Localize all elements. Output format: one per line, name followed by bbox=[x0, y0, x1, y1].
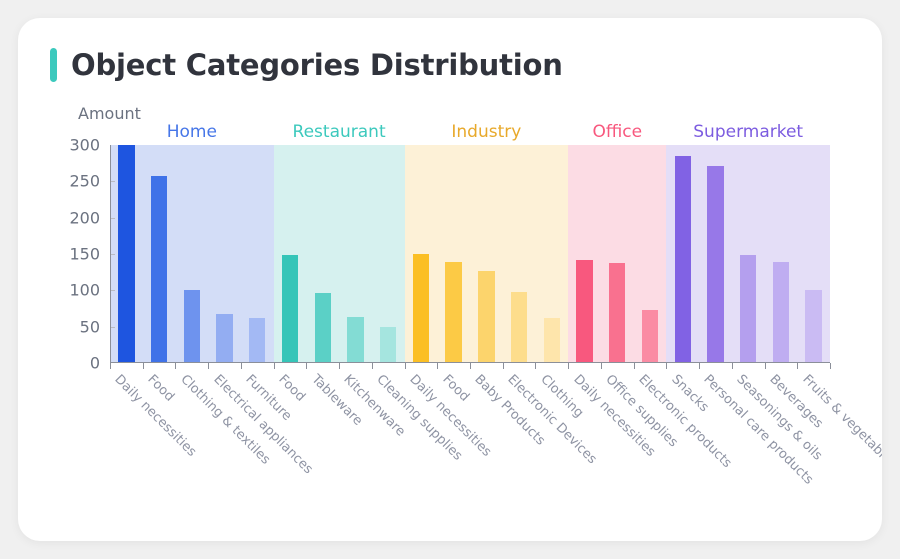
x-tick bbox=[241, 363, 242, 369]
bar[interactable] bbox=[413, 254, 429, 363]
bar[interactable] bbox=[576, 260, 592, 363]
bar[interactable] bbox=[347, 317, 363, 363]
bar[interactable] bbox=[216, 314, 232, 363]
bar[interactable] bbox=[315, 293, 331, 363]
chart-title-row: Object Categories Distribution bbox=[50, 48, 563, 82]
x-tick bbox=[765, 363, 766, 369]
x-tick bbox=[143, 363, 144, 369]
x-tick bbox=[732, 363, 733, 369]
x-tick bbox=[405, 363, 406, 369]
y-tick-label: 100 bbox=[69, 281, 100, 300]
bar[interactable] bbox=[445, 262, 461, 363]
y-axis-title: Amount bbox=[78, 104, 141, 123]
bar[interactable] bbox=[642, 310, 658, 363]
x-axis-line bbox=[110, 362, 830, 363]
bar[interactable] bbox=[478, 271, 494, 363]
x-tick bbox=[470, 363, 471, 369]
group-label-office: Office bbox=[592, 122, 642, 142]
bar[interactable] bbox=[805, 290, 821, 363]
bar[interactable] bbox=[740, 255, 756, 363]
bar[interactable] bbox=[511, 292, 527, 363]
x-tick bbox=[830, 363, 831, 369]
y-tick-label: 50 bbox=[80, 317, 100, 336]
bar[interactable] bbox=[380, 327, 396, 363]
bar[interactable] bbox=[118, 145, 134, 363]
y-tick-label: 0 bbox=[90, 354, 100, 373]
x-tick bbox=[666, 363, 667, 369]
plot-area: 050100150200250300 bbox=[110, 145, 830, 363]
group-label-home: Home bbox=[167, 122, 217, 142]
x-tick bbox=[339, 363, 340, 369]
x-tick bbox=[437, 363, 438, 369]
x-tick bbox=[208, 363, 209, 369]
bar[interactable] bbox=[184, 290, 200, 363]
x-tick bbox=[699, 363, 700, 369]
bar[interactable] bbox=[151, 176, 167, 363]
y-tick-label: 250 bbox=[69, 172, 100, 191]
bar[interactable] bbox=[675, 156, 691, 363]
x-tick bbox=[372, 363, 373, 369]
x-tick bbox=[601, 363, 602, 369]
x-tick bbox=[503, 363, 504, 369]
bar[interactable] bbox=[707, 166, 723, 363]
bar[interactable] bbox=[282, 255, 298, 363]
x-tick bbox=[274, 363, 275, 369]
x-tick bbox=[568, 363, 569, 369]
x-tick bbox=[175, 363, 176, 369]
bar[interactable] bbox=[249, 318, 265, 363]
x-tick bbox=[110, 363, 111, 369]
chart-card: Object Categories Distribution Amount Ho… bbox=[18, 18, 882, 541]
group-label-restaurant: Restaurant bbox=[293, 122, 386, 142]
x-tick bbox=[535, 363, 536, 369]
y-tick-label: 200 bbox=[69, 208, 100, 227]
bar[interactable] bbox=[609, 263, 625, 363]
x-tick bbox=[634, 363, 635, 369]
y-axis-line bbox=[110, 145, 111, 363]
bar[interactable] bbox=[773, 262, 789, 363]
y-tick-label: 150 bbox=[69, 245, 100, 264]
x-tick bbox=[797, 363, 798, 369]
page-title: Object Categories Distribution bbox=[71, 48, 563, 82]
group-label-supermarket: Supermarket bbox=[693, 122, 803, 142]
y-tick-label: 300 bbox=[69, 136, 100, 155]
group-label-industry: Industry bbox=[451, 122, 521, 142]
title-accent-bar bbox=[50, 48, 57, 82]
bar[interactable] bbox=[544, 318, 560, 363]
x-tick bbox=[306, 363, 307, 369]
